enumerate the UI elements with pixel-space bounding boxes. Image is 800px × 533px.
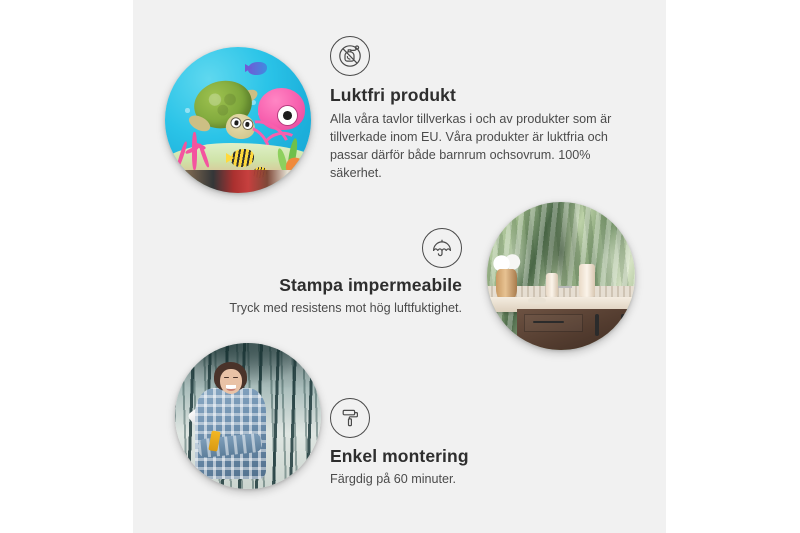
feature-title: Enkel montering bbox=[330, 446, 590, 467]
feature-title: Stampa impermeabile bbox=[190, 275, 462, 296]
feature-description: Alla våra tavlor tillverkas i och av pro… bbox=[330, 111, 630, 183]
feature-waterproof: Stampa impermeabile Tryck med resistens … bbox=[190, 228, 462, 318]
eyebrow bbox=[224, 377, 229, 378]
purple-fish-icon bbox=[248, 62, 267, 75]
photo-bottom-strip bbox=[165, 170, 311, 193]
coral-icon bbox=[177, 129, 215, 170]
soap-bottle bbox=[546, 273, 558, 297]
vanity-drawer bbox=[524, 314, 583, 332]
smile bbox=[226, 385, 236, 390]
drawer-handle bbox=[533, 321, 564, 323]
product-feature-graphic: Luktfri produkt Alla våra tavlor tillver… bbox=[0, 0, 800, 533]
feature-description: Färgdig på 60 minuter. bbox=[330, 471, 590, 489]
icon-wrap bbox=[190, 228, 462, 268]
wood-vanity-cabinet bbox=[517, 309, 635, 350]
forest-canopy bbox=[175, 343, 321, 393]
no-fragrance-spray-bottle-icon bbox=[330, 36, 370, 76]
icon-wrap bbox=[330, 398, 590, 438]
icon-wrap bbox=[330, 36, 630, 76]
cabinet-handle bbox=[621, 314, 626, 333]
feature-title: Luktfri produkt bbox=[330, 85, 630, 106]
cabinet-handle bbox=[595, 314, 600, 336]
product-photo-ocean-mural bbox=[165, 47, 311, 193]
feature-odourless: Luktfri produkt Alla våra tavlor tillver… bbox=[330, 36, 630, 183]
feature-easy-mount: Enkel montering Färgdig på 60 minuter. bbox=[330, 398, 590, 489]
product-photo-bathroom bbox=[487, 202, 635, 350]
bubble-icon bbox=[185, 108, 189, 112]
feature-description: Tryck med resistens mot hög luftfuktighe… bbox=[190, 300, 462, 318]
product-photo-forest-mural bbox=[175, 343, 321, 489]
paint-roller-icon bbox=[330, 398, 370, 438]
soap-bottle bbox=[579, 264, 595, 297]
eyebrow bbox=[233, 377, 238, 378]
umbrella-icon bbox=[422, 228, 462, 268]
striped-fish-icon bbox=[231, 149, 254, 167]
